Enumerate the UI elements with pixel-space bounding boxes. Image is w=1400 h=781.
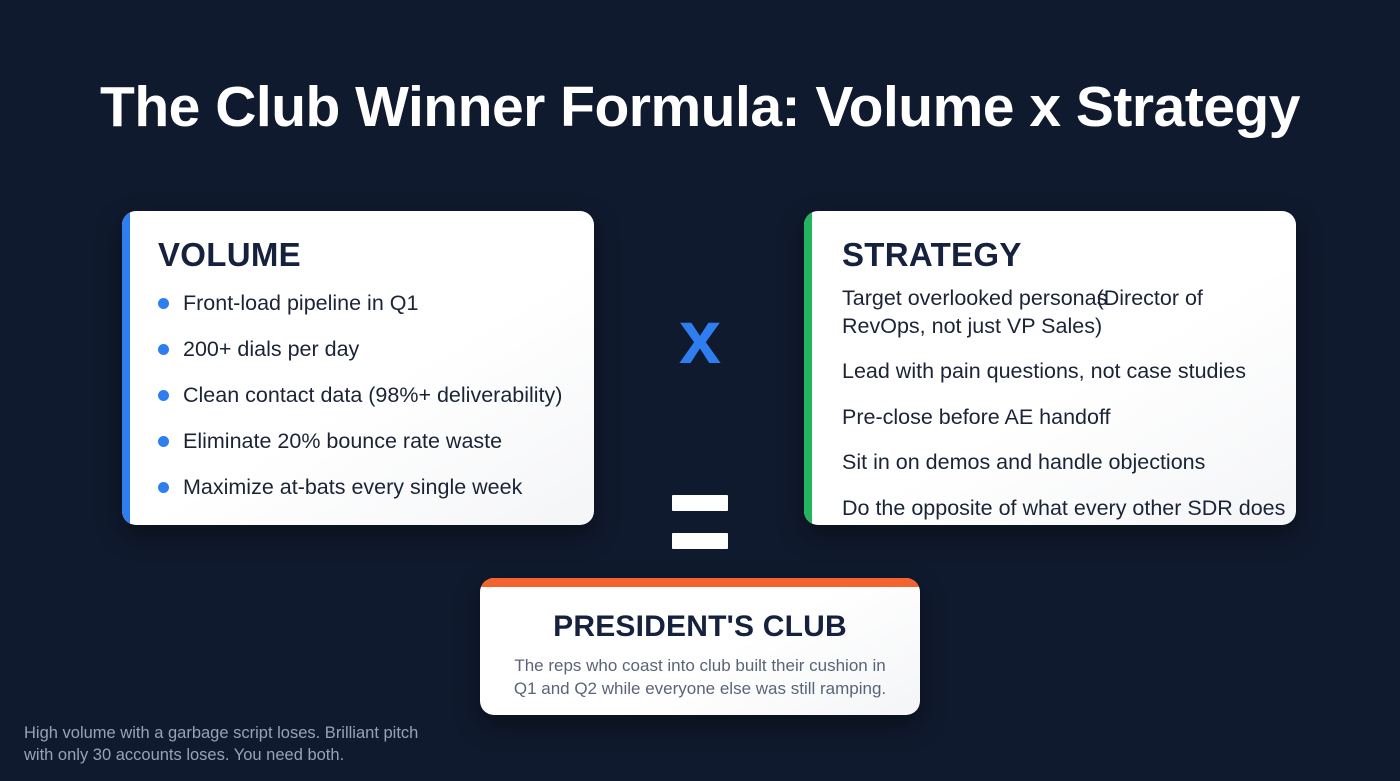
list-item-label: Eliminate 20% bounce rate waste xyxy=(183,428,502,455)
list-item: Front-load pipeline in Q1 xyxy=(158,290,578,317)
list-item: 200+ dials per day xyxy=(158,336,578,363)
list-item-label: Maximize at-bats every single week xyxy=(183,474,522,501)
volume-card: VOLUME Front-load pipeline in Q1 200+ di… xyxy=(122,211,594,525)
list-item-label-tail: (Director of xyxy=(1097,286,1203,310)
slide-canvas: { "title": "The Club Winner Formula: Vol… xyxy=(0,0,1400,781)
list-item-label: 200+ dials per day xyxy=(183,336,359,363)
bullet-dot-icon xyxy=(158,390,169,401)
footer-note: High volume with a garbage script loses.… xyxy=(24,722,444,767)
volume-accent-bar xyxy=(122,211,130,525)
equals-operator xyxy=(672,495,728,549)
club-card-title: PRESIDENT'S CLUB xyxy=(480,610,920,644)
equals-bar-bottom xyxy=(672,533,728,549)
list-item: Clean contact data (98%+ deliverability) xyxy=(158,382,578,409)
volume-bullet-list: Front-load pipeline in Q1 200+ dials per… xyxy=(158,290,578,500)
list-item: Do the opposite of what every other SDR … xyxy=(842,495,1288,523)
bullet-dot-icon xyxy=(158,344,169,355)
page-title: The Club Winner Formula: Volume x Strate… xyxy=(0,76,1400,139)
equals-bar-top xyxy=(672,495,728,511)
club-card-body: The reps who coast into club built their… xyxy=(504,655,896,701)
list-item: Maximize at-bats every single week xyxy=(158,474,578,501)
list-item-label: Clean contact data (98%+ deliverability) xyxy=(183,382,562,409)
list-item: Lead with pain questions, not case studi… xyxy=(842,358,1288,386)
bullet-dot-icon xyxy=(158,298,169,309)
bullet-dot-icon xyxy=(158,436,169,447)
list-item: Target overlooked personas(Director of R… xyxy=(842,285,1242,340)
list-item-label-lead: Target overlooked persona xyxy=(842,286,1097,310)
multiply-operator: x xyxy=(640,300,760,376)
bullet-dot-icon xyxy=(158,482,169,493)
strategy-accent-bar xyxy=(804,211,812,525)
list-item: Pre-close before AE handoff xyxy=(842,404,1288,432)
list-item: Sit in on demos and handle objections xyxy=(842,449,1288,477)
strategy-card: STRATEGY Target overlooked personas(Dire… xyxy=(804,211,1296,525)
list-item-label: Front-load pipeline in Q1 xyxy=(183,290,418,317)
list-item: Eliminate 20% bounce rate waste xyxy=(158,428,578,455)
presidents-club-card: PRESIDENT'S CLUB The reps who coast into… xyxy=(480,578,920,715)
strategy-card-heading: STRATEGY xyxy=(842,236,1022,274)
list-item-label-secondline: RevOps, not just VP Sales) xyxy=(842,314,1102,338)
strategy-item-list: Target overlooked personas(Director of R… xyxy=(842,285,1288,522)
volume-card-heading: VOLUME xyxy=(158,236,301,274)
club-accent-bar xyxy=(480,578,920,587)
